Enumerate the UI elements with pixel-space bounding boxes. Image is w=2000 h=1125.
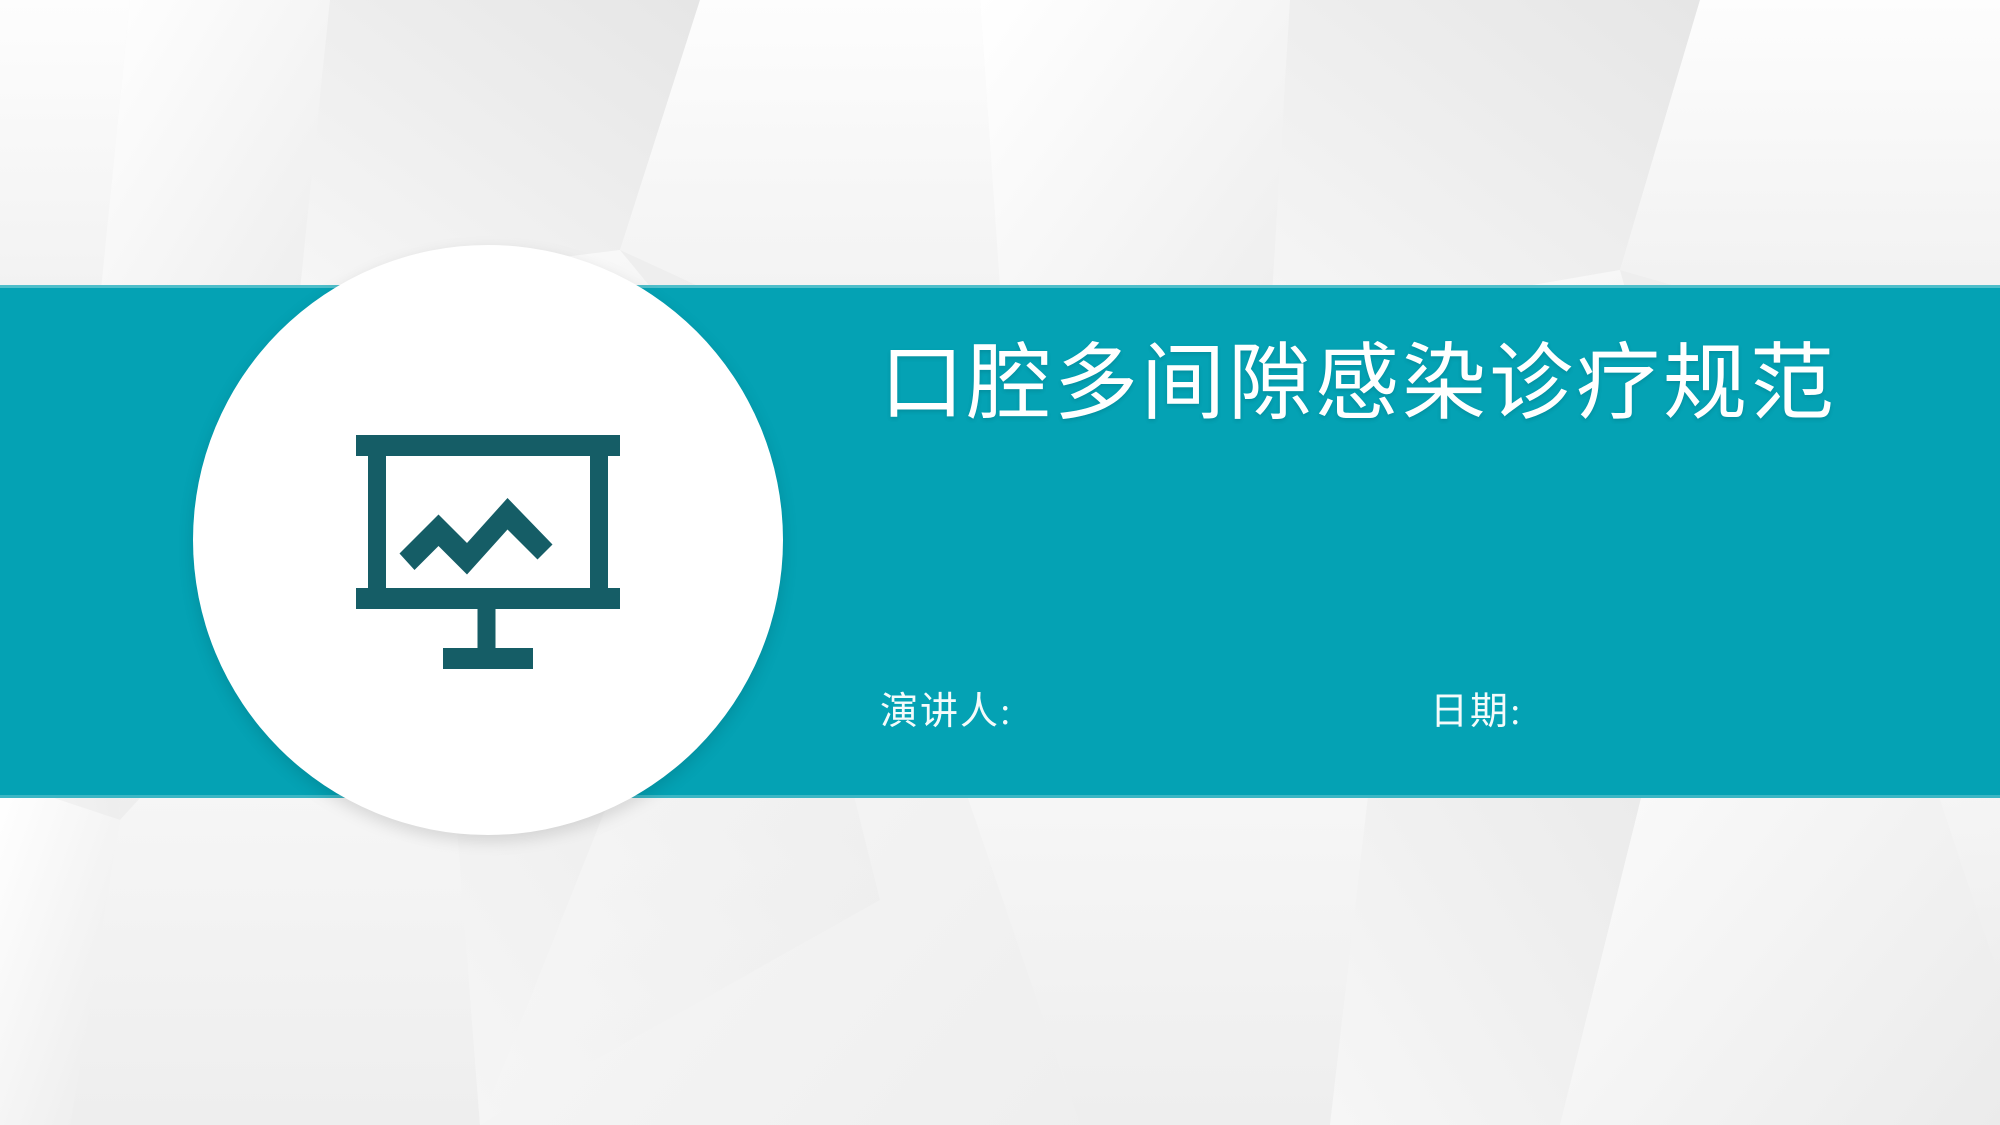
presentation-board-icon [338, 390, 638, 690]
page-title: 口腔多间隙感染诊疗规范 [880, 330, 1880, 439]
date-label[interactable]: 日期: [1430, 690, 1830, 736]
title-block: 口腔多间隙感染诊疗规范 [880, 330, 1880, 439]
banner-bottom-highlight [0, 795, 2000, 798]
speaker-label[interactable]: 演讲人: [880, 690, 1430, 736]
meta-row: 演讲人: 日期: [880, 690, 1880, 736]
icon-circle [193, 245, 783, 835]
banner-top-highlight [0, 285, 2000, 288]
slide-canvas: 口腔多间隙感染诊疗规范 演讲人: 日期: [0, 0, 2000, 1125]
